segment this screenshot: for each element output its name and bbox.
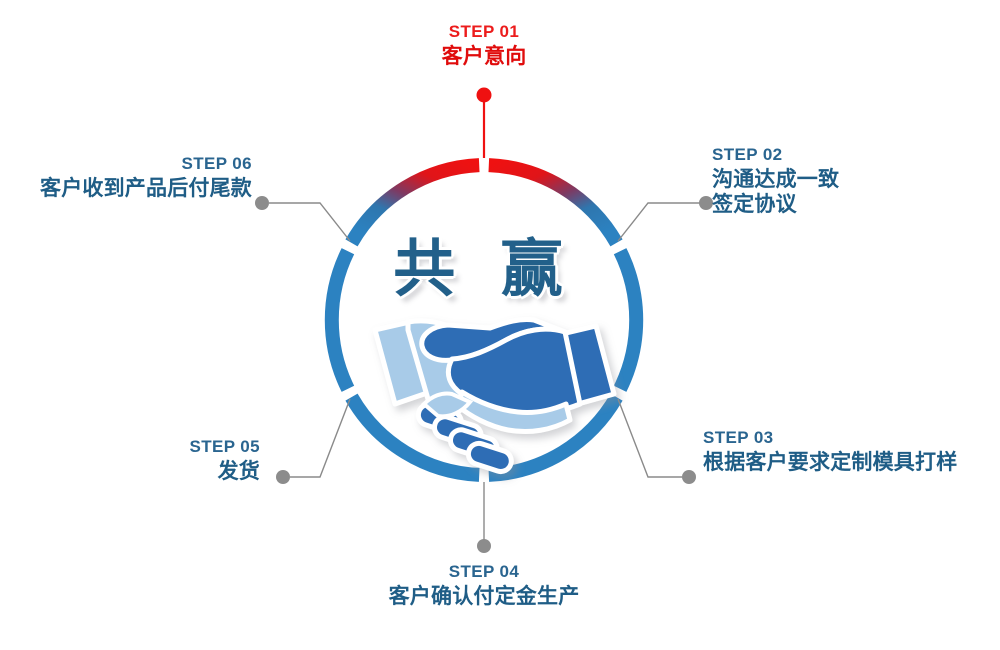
step-label-01[interactable]: STEP 01 客户意向 xyxy=(384,22,584,70)
step-number-03: STEP 03 xyxy=(703,428,993,448)
step-number-02: STEP 02 xyxy=(712,145,972,165)
step-label-06[interactable]: STEP 06 客户收到产品后付尾款 xyxy=(20,154,252,202)
step-title-04-line-1: 客户确认付定金生产 xyxy=(384,585,584,610)
step-title-01-line-1: 客户意向 xyxy=(384,45,584,70)
step-label-02[interactable]: STEP 02 沟通达成一致 签定协议 xyxy=(712,145,972,218)
step-title-06: 客户收到产品后付尾款 xyxy=(20,177,252,202)
finger-4-shape xyxy=(466,441,514,475)
step-title-01: 客户意向 xyxy=(384,45,584,70)
step-title-02-line-2: 签定协议 xyxy=(712,193,972,218)
step-title-06-line-1: 客户收到产品后付尾款 xyxy=(20,177,252,202)
step-title-02-line-1: 沟通达成一致 xyxy=(712,168,972,193)
step-label-03[interactable]: STEP 03 根据客户要求定制模具打样 xyxy=(703,428,993,476)
step-title-03: 根据客户要求定制模具打样 xyxy=(703,451,993,476)
infographic-canvas: 共 赢 STEP 01 客户意向 STEP 02 沟通达成一致 签定协议 STE… xyxy=(0,0,1000,650)
handshake-illustration xyxy=(0,0,1000,650)
step-number-05: STEP 05 xyxy=(60,437,260,457)
step-number-06: STEP 06 xyxy=(20,154,252,174)
step-title-04: 客户确认付定金生产 xyxy=(384,585,584,610)
step-label-05[interactable]: STEP 05 发货 xyxy=(60,437,260,485)
step-label-04[interactable]: STEP 04 客户确认付定金生产 xyxy=(384,562,584,610)
step-title-05-line-1: 发货 xyxy=(60,460,260,485)
step-title-02: 沟通达成一致 签定协议 xyxy=(712,168,972,218)
center-wordmark: 共 赢 xyxy=(384,218,584,308)
step-title-05: 发货 xyxy=(60,460,260,485)
step-title-03-line-1: 根据客户要求定制模具打样 xyxy=(703,451,993,476)
step-number-04: STEP 04 xyxy=(384,562,584,582)
step-number-01: STEP 01 xyxy=(384,22,584,42)
